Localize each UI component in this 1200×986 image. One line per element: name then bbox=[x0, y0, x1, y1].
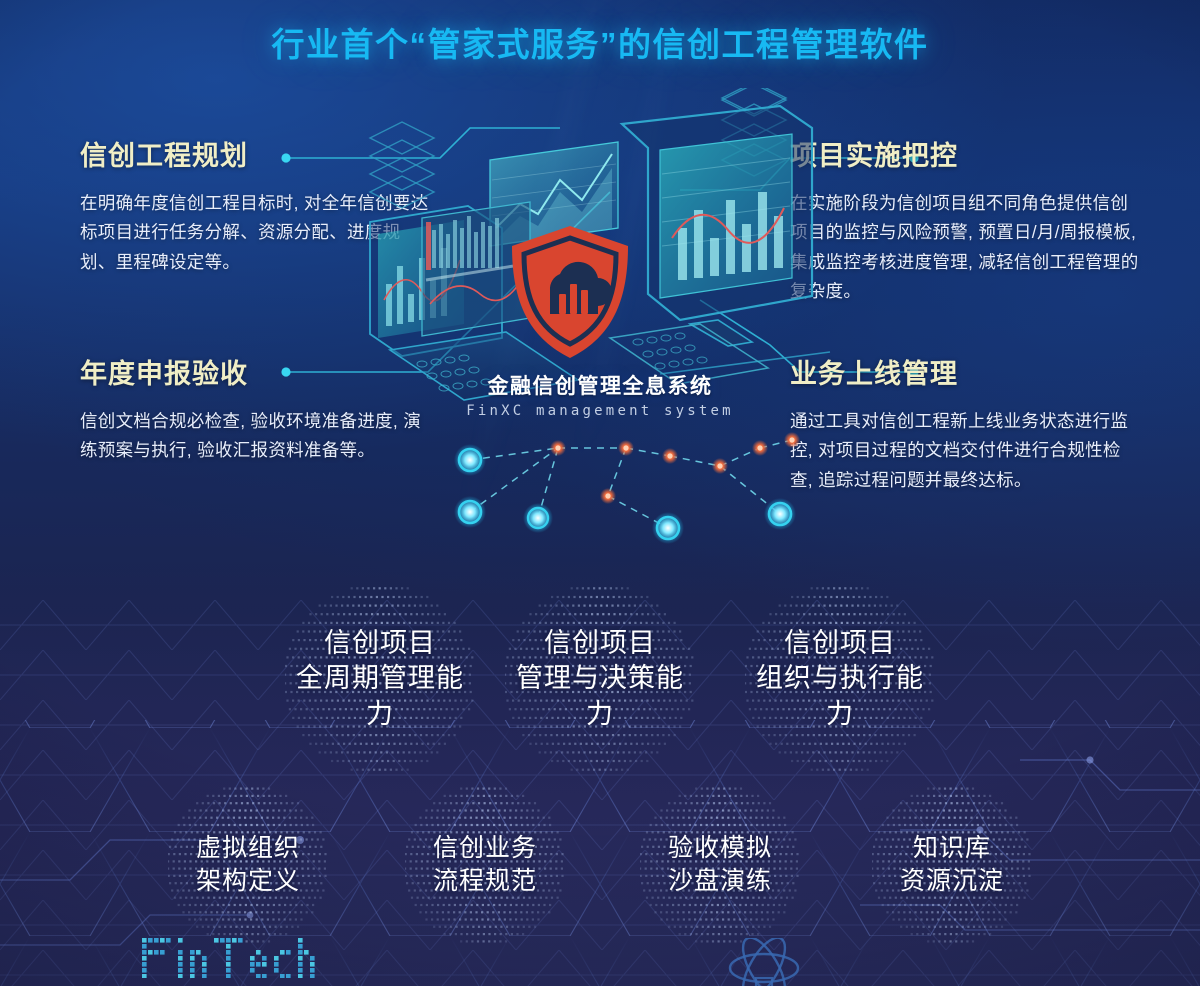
capability-line-2: 组织与执行能力 bbox=[745, 661, 935, 732]
capability-label: 信创项目 管理与决策能力 bbox=[505, 626, 695, 733]
capability-line-1: 信创项目 bbox=[745, 626, 935, 662]
capability-sphere-knowledge-base[interactable]: 知识库 资源沉淀 bbox=[872, 785, 1032, 945]
capability-sphere-process-spec[interactable]: 信创业务 流程规范 bbox=[405, 785, 565, 945]
isometric-devices-illustration bbox=[360, 88, 840, 418]
capability-line-2: 全周期管理能力 bbox=[285, 661, 475, 732]
capability-label: 信创项目 全周期管理能力 bbox=[285, 626, 475, 733]
capability-label: 信创业务 流程规范 bbox=[433, 832, 537, 898]
feature-body: 在实施阶段为信创项目组不同角色提供信创项目的监控与风险预警, 预置日/月/周报模… bbox=[790, 189, 1142, 307]
capability-line-2: 沙盘演练 bbox=[668, 865, 772, 898]
capability-sphere-lifecycle[interactable]: 信创项目 全周期管理能力 bbox=[285, 584, 475, 774]
capability-sphere-virtual-org[interactable]: 虚拟组织 架构定义 bbox=[168, 785, 328, 945]
capability-sphere-execution[interactable]: 信创项目 组织与执行能力 bbox=[745, 584, 935, 774]
capability-line-2: 资源沉淀 bbox=[900, 865, 1004, 898]
capability-line-1: 虚拟组织 bbox=[196, 832, 300, 865]
feature-block-implementation: 项目实施把控 在实施阶段为信创项目组不同角色提供信创项目的监控与风险预警, 预置… bbox=[790, 134, 1142, 307]
capability-line-2: 流程规范 bbox=[433, 865, 537, 898]
atom-icon bbox=[718, 938, 810, 986]
center-title-en: FinXC management system bbox=[360, 403, 840, 419]
capability-line-1: 知识库 bbox=[900, 832, 1004, 865]
node-network bbox=[430, 420, 850, 550]
capability-label: 虚拟组织 架构定义 bbox=[196, 832, 300, 898]
capability-sphere-acceptance-drill[interactable]: 验收模拟 沙盘演练 bbox=[640, 785, 800, 945]
capability-line-1: 信创项目 bbox=[285, 626, 475, 662]
capability-line-1: 验收模拟 bbox=[668, 832, 772, 865]
center-title-cn: 金融信创管理全息系统 bbox=[360, 370, 840, 400]
capability-label: 验收模拟 沙盘演练 bbox=[668, 832, 772, 898]
node-ring bbox=[454, 444, 796, 544]
fintech-dot-wordmark bbox=[140, 930, 340, 978]
capability-line-2: 管理与决策能力 bbox=[505, 661, 695, 732]
capability-line-2: 架构定义 bbox=[196, 865, 300, 898]
feature-title: 项目实施把控 bbox=[790, 134, 1142, 173]
capability-sphere-decision[interactable]: 信创项目 管理与决策能力 bbox=[505, 584, 695, 774]
feature-title: 业务上线管理 bbox=[790, 352, 1142, 391]
capability-label: 信创项目 组织与执行能力 bbox=[745, 626, 935, 733]
capability-line-1: 信创项目 bbox=[505, 626, 695, 662]
page-title: 行业首个“管家式服务”的信创工程管理软件 bbox=[0, 18, 1200, 66]
capability-label: 知识库 资源沉淀 bbox=[900, 832, 1004, 898]
center-system-label: 金融信创管理全息系统 FinXC management system bbox=[360, 370, 840, 419]
capability-line-1: 信创业务 bbox=[433, 832, 537, 865]
infographic-poster: 行业首个“管家式服务”的信创工程管理软件 信创工程规划 在明确年度信创工程目标时… bbox=[0, 0, 1200, 986]
node-spark bbox=[550, 432, 800, 504]
